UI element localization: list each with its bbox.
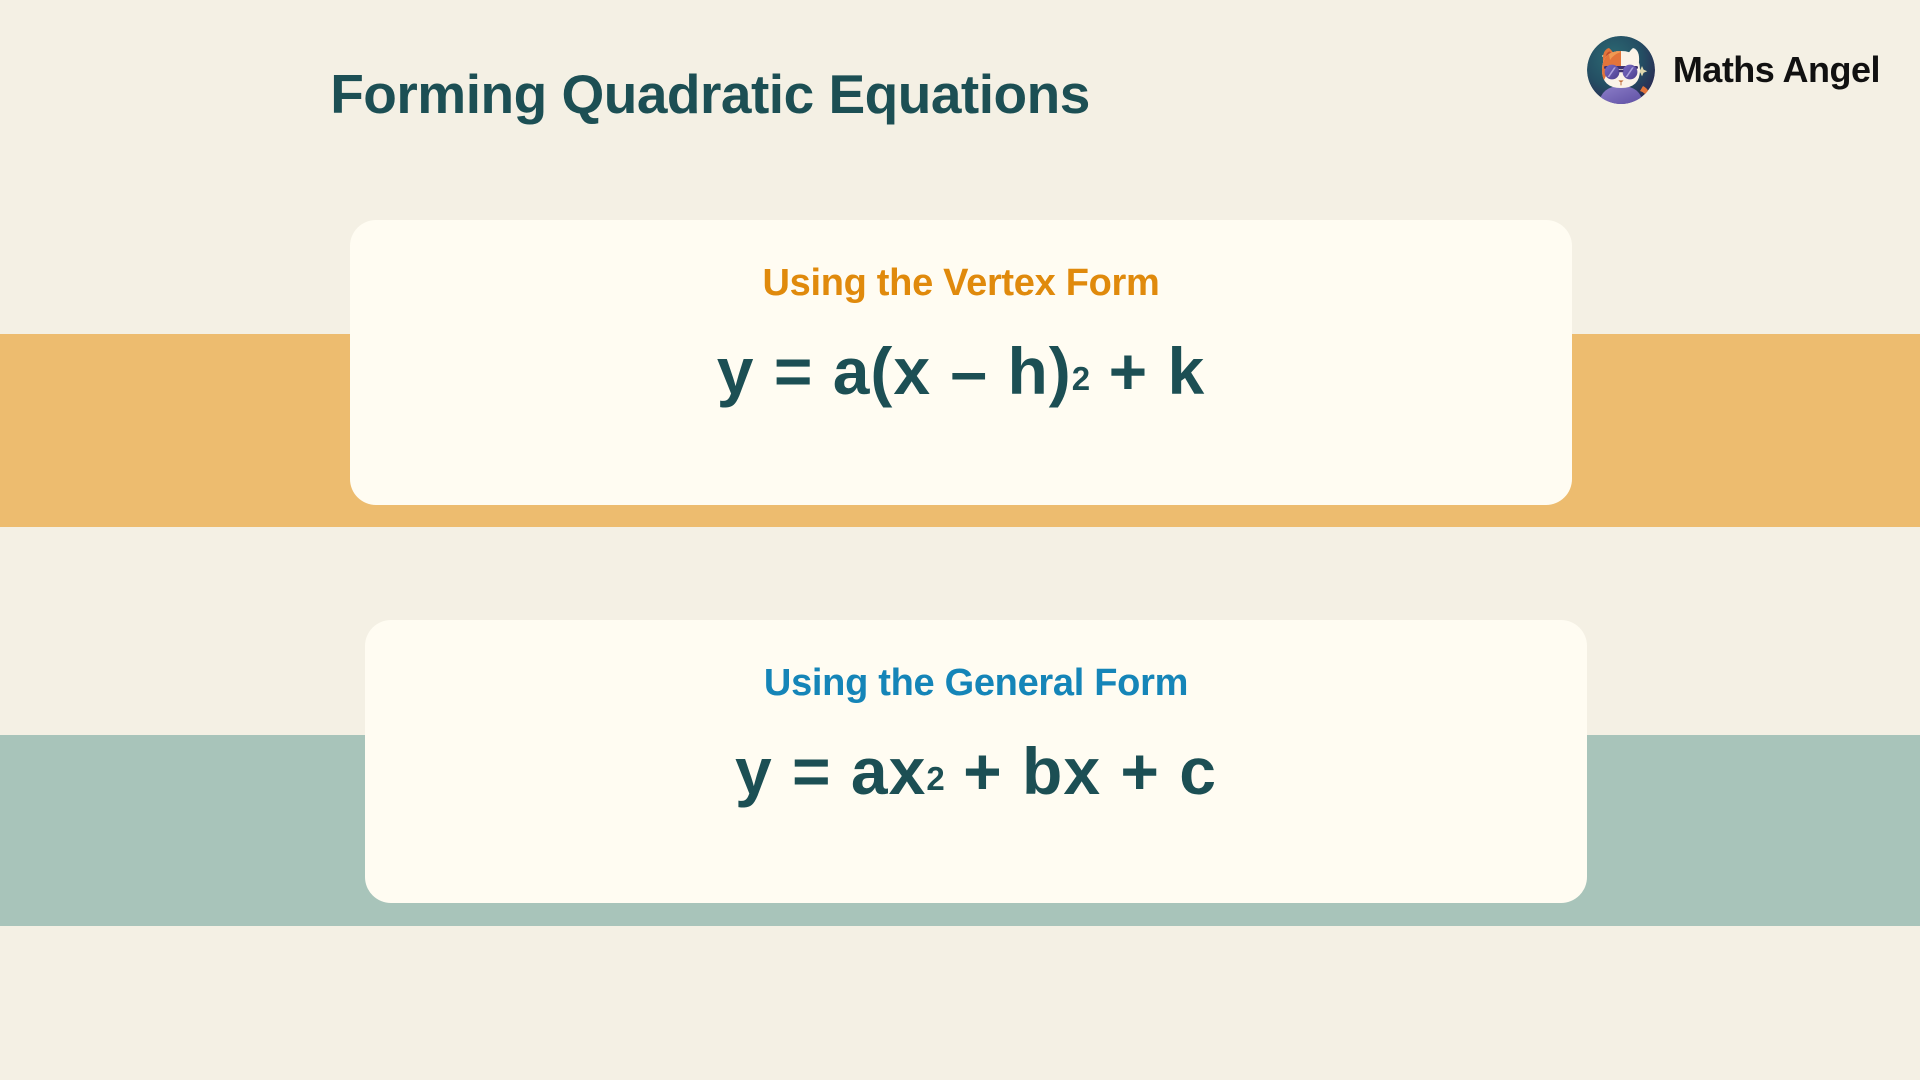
formula-exponent: 2 — [926, 760, 944, 798]
formula-tail: + bx + c — [963, 733, 1217, 809]
card-general-form-formula: y = ax2+ bx + c — [735, 733, 1217, 809]
brand-logo-group: Maths Angel — [1587, 36, 1880, 104]
card-general-form-heading: Using the General Form — [764, 662, 1188, 705]
card-vertex-form-heading: Using the Vertex Form — [762, 262, 1159, 305]
formula-exponent: 2 — [1072, 360, 1090, 398]
formula-lead: y = ax — [735, 733, 926, 809]
card-general-form: Using the General Form y = ax2+ bx + c — [365, 620, 1587, 903]
page-title: Forming Quadratic Equations — [0, 62, 1420, 126]
formula-tail: + k — [1109, 333, 1206, 409]
formula-lead: y = a(x – h) — [717, 333, 1072, 409]
card-vertex-form: Using the Vertex Form y = a(x – h)2+ k — [350, 220, 1572, 505]
card-vertex-form-formula: y = a(x – h)2+ k — [717, 333, 1205, 409]
maths-angel-mascot-icon — [1587, 36, 1655, 104]
brand-name: Maths Angel — [1673, 49, 1880, 91]
